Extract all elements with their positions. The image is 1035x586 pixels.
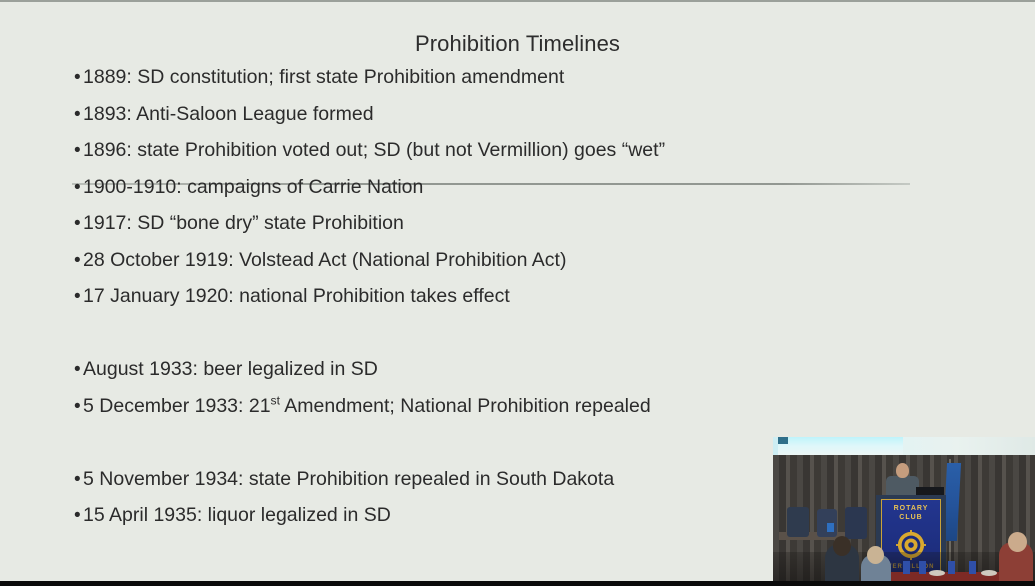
drinking-glass <box>969 561 976 574</box>
bullet-item: • 5 December 1933: 21st Amendment; Natio… <box>74 397 954 434</box>
chair <box>787 507 809 537</box>
plate <box>981 570 997 576</box>
bullet-item: • August 1933: beer legalized in SD <box>74 360 954 397</box>
audience-member-head <box>1008 532 1027 552</box>
drinking-glass <box>919 561 926 574</box>
speaker-head <box>896 463 909 478</box>
bullet-marker-icon: • <box>74 214 83 233</box>
bullet-item: • 1896: state Prohibition voted out; SD … <box>74 141 954 178</box>
presentation-slide: Prohibition Timelines • 1889: SD constit… <box>0 0 1035 586</box>
bullet-marker-icon: • <box>74 105 83 124</box>
bullet-marker-icon: • <box>74 251 83 270</box>
bullet-item-label: 5 November 1934: state Prohibition repea… <box>83 470 614 490</box>
bullet-item-label: 1917: SD “bone dry” state Prohibition <box>83 214 404 234</box>
bullet-item-label: 15 April 1935: liquor legalized in SD <box>83 506 391 526</box>
projection-screen <box>778 437 903 457</box>
bullet-item: • 1917: SD “bone dry” state Prohibition <box>74 214 954 251</box>
bullet-item: • 17 January 1920: national Prohibition … <box>74 287 954 324</box>
chair <box>845 507 867 539</box>
bullet-item-label: 1889: SD constitution; first state Prohi… <box>83 68 564 88</box>
slide-bottom-letterbox <box>0 581 1035 586</box>
bullet-marker-icon: • <box>74 470 83 489</box>
audience-member-head <box>867 546 884 564</box>
bullet-item-label: 1893: Anti-Saloon League formed <box>83 105 374 125</box>
bullet-marker-icon: • <box>74 397 83 416</box>
bullet-item: • 1893: Anti-Saloon League formed <box>74 105 954 142</box>
ordinal-rest: Amendment; National Prohibition repealed <box>280 395 651 417</box>
bullet-marker-icon: • <box>74 287 83 306</box>
slide-top-rule <box>0 0 1035 2</box>
bullet-item-label: August 1933: beer legalized in SD <box>83 360 378 380</box>
video-frame: ROTARY CLUB VERMILLION <box>773 437 1035 586</box>
bullet-marker-icon: • <box>74 141 83 160</box>
bullet-item-label-ordinal: 5 December 1933: 21st Amendment; Nationa… <box>83 397 651 417</box>
projection-screen-corner <box>778 437 788 444</box>
bullet-item: • 1889: SD constitution; first state Pro… <box>74 68 954 105</box>
ordinal-suffix: st <box>271 393 280 407</box>
banner-line-2: CLUB <box>882 514 940 521</box>
bullet-marker-icon: • <box>74 178 83 197</box>
bullet-item: • 1900-1910: campaigns of Carrie Nation <box>74 178 954 215</box>
ordinal-prefix: 5 December 1933: 21 <box>83 395 271 417</box>
bullet-item-label: 17 January 1920: national Prohibition ta… <box>83 287 510 307</box>
bullet-marker-icon: • <box>74 360 83 379</box>
bullet-item: • 28 October 1919: Volstead Act (Nationa… <box>74 251 954 288</box>
drinking-glass <box>948 561 955 574</box>
video-overlay-panel[interactable]: ROTARY CLUB VERMILLION <box>773 437 1035 586</box>
bullet-marker-icon: • <box>74 506 83 525</box>
banner-line-1: ROTARY <box>894 505 929 512</box>
bullet-item-label: 1896: state Prohibition voted out; SD (b… <box>83 141 665 161</box>
bullet-item-label: 1900-1910: campaigns of Carrie Nation <box>83 178 423 198</box>
drinking-glass <box>903 561 910 574</box>
cup <box>827 523 834 532</box>
slide-title: Prohibition Timelines <box>0 31 1035 57</box>
bullet-marker-icon: • <box>74 68 83 87</box>
bullet-item-label: 28 October 1919: Volstead Act (National … <box>83 251 566 271</box>
audience-member-head <box>833 536 851 556</box>
bullet-group-spacer <box>74 324 954 361</box>
plate <box>929 570 945 576</box>
